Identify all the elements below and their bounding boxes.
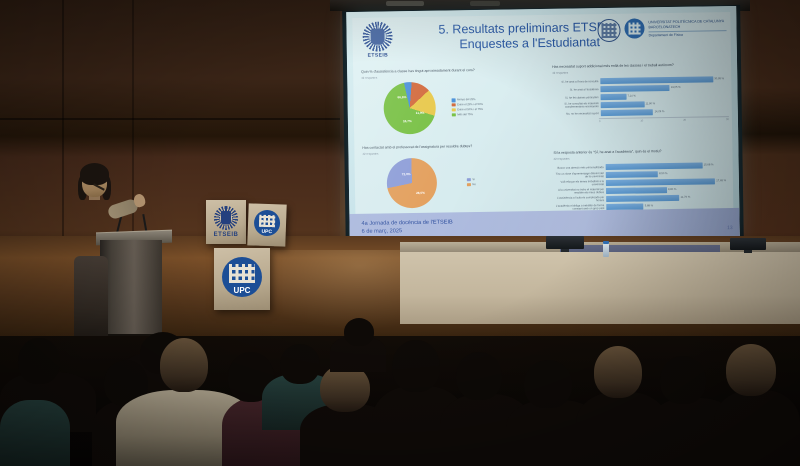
bar-category-label: Sí, he fet classes particulars [553,96,601,100]
legend-label: Més del 75% [457,113,473,116]
audience-head [726,344,776,396]
legend-item: Sí [467,178,476,182]
chart-block-pie-assistencia: Quin % d'assistència a classe has tingut… [361,67,562,135]
bar-value-label: 19,05 % [671,86,681,89]
audience-head [392,340,440,392]
water-bottle-cap [603,241,609,244]
axis-tick: 30 [726,118,729,121]
audience-head [456,352,502,400]
upc-logo-icon: UPC [254,210,281,237]
upc-logo-group: UNIVERSITAT POLITÈCNICA DE CATALUNYA BAR… [597,17,726,42]
bar-category-label: Busco una atenció més personalitzada [554,166,606,170]
speaker-hair [80,163,109,185]
bar-value-label: 11,90 % [645,102,655,105]
slide-title-line1: 5. Resultats preliminars ETSEIB: [438,20,620,37]
upc-seal-icon [597,19,620,42]
bar-track: 11,90 % [601,100,729,108]
legend-label: Entre el 50% i el 75% [457,108,483,111]
audience-member [714,390,800,466]
audience-head [344,318,374,346]
upc-label: UPC [222,286,262,295]
bar-fill [606,195,679,202]
upc-logo-icon: UPC [222,257,262,297]
legend-swatch-icon [452,108,456,112]
left-wood-paneling [0,0,340,262]
pie-chart-contacte: 72,0% 28,0% [387,158,438,209]
bar-fill [601,94,627,101]
etseib-logo: ETSEIB [360,21,395,62]
legend-swatch-icon [452,98,456,102]
etseib-crest-icon [214,206,238,230]
upc-wordmark: UNIVERSITAT POLITÈCNICA DE CATALUNYA BAR… [648,17,726,38]
ceiling-light [470,1,500,6]
footer-event-name: 4a Jornada de docència de l'ETSEIB [361,220,452,229]
legend-label: Entre el 25% i el 50% [457,103,483,106]
pie-slice-label: 72,0% [402,172,411,176]
upc-grid-icon [624,18,644,38]
pie-chart-assistencia: 66,6% 16,7% 11,9% [383,82,436,135]
bar-track: 17,65 % [606,178,730,186]
wall-seam [62,0,64,262]
legend-item: Menys del 25% [452,98,483,102]
bar-fill [600,76,713,84]
wall-seam [132,0,134,262]
lectern-panel-upc-small: UPC [247,203,286,246]
pie-slice-label: 28,0% [416,191,425,195]
bar-track: 30,95 % [600,76,728,84]
bar-fill [606,178,715,186]
bar-category-label: L'assistència a l'aula és complicada per… [554,196,606,203]
chart-response-count: 42 respostes [552,68,728,75]
monitor-stand [744,250,752,253]
ceiling-light [386,1,424,6]
wall-seam [0,118,340,120]
bar-category-label: Sí, he anat a l'acadèmia [552,88,600,92]
bar-category-label: Tinc un ritme d'aprenentatge diferent de… [554,172,606,179]
auditorium-scene: ETSEIB 5. Resultats preliminars ETSEIB: … [0,0,800,466]
lectern-panel-upc-large: UPC [214,248,270,310]
upc-department-name: Departament de Física [649,30,727,38]
bar-value-label: 17,65 % [716,179,726,182]
bar-category-label: No, no he necessitat suport [553,112,601,116]
slide-page-number: 13 [727,225,733,231]
bar-track: 19,05 % [600,84,728,92]
audience-head [280,344,320,384]
axis-tick: 20 [683,119,686,122]
bar-track: 7,14 % [601,92,729,100]
bar-fill [606,187,667,194]
presentation-slide: ETSEIB 5. Resultats preliminars ETSEIB: … [346,6,740,244]
chart-block-bar-suport: Has necessitat suport addicional més enl… [552,62,729,124]
bar-value-label: 5,88 % [645,204,653,207]
pie-slice-label: 16,7% [403,119,412,123]
chart-block-pie-contacte: Has contactat amb el professorat de l'as… [362,143,563,209]
upc-label: UPC [254,229,280,236]
pie-legend-assistencia: Menys del 25% Entre el 25% i el 50% Entr… [452,98,483,117]
legend-label: Menys del 25% [457,98,475,101]
legend-label: No [472,183,475,186]
legend-item: Entre el 25% i el 50% [452,103,483,107]
chart-block-bar-motiu: Si la resposta anterior és "Sí, he anat … [553,148,730,218]
legend-label: Sí [472,178,475,181]
upc-university-name: UNIVERSITAT POLITÈCNICA DE CATALUNYA BAR… [648,19,726,29]
bar-value-label: 30,95 % [714,77,724,80]
axis-tick: 10 [640,119,643,122]
legend-swatch-icon [467,178,471,182]
bar-value-label: 11,76 % [681,196,691,199]
bar-chart-suport: Sí, he anat a l'hora de consulta 30,95 %… [552,76,729,124]
etseib-crest-icon [362,21,392,51]
bar-value-label: 15,68 % [704,163,714,166]
slide-footer-text: 4a Jornada de docència de l'ETSEIB 6 de … [361,220,452,236]
lectern-etseib-label: ETSEIB [206,232,246,238]
panel-table-front [400,252,800,324]
audience-head [594,346,642,398]
bar-category-label: A la universitat no trobo el material pe… [554,188,606,195]
pie-legend-contacte: Sí No [467,178,476,187]
audience-head [160,338,208,392]
right-wood-paneling [735,0,800,258]
audience-head [524,360,572,408]
bar-track: 8,50 % [606,170,730,178]
audience-head [660,356,706,404]
bar-fill [600,85,669,92]
bar-category-label: Sí, he anat a l'hora de consulta [552,80,600,84]
bar-category-label: Sí, he consultat els materials complemen… [553,102,601,109]
etseib-logo-label: ETSEIB [361,52,395,59]
legend-swatch-icon [452,113,456,117]
bar-fill [606,163,703,171]
monitor-stand [561,249,569,252]
water-bottle [603,243,609,257]
bar-track: 15,68 % [606,162,730,170]
projection-screen: ETSEIB 5. Resultats preliminars ETSEIB: … [346,6,740,244]
legend-item: Més del 75% [452,113,483,117]
axis-tick: 0 [599,120,601,123]
panel-monitor [546,236,584,249]
bar-track: 14,29 % [601,108,729,116]
bar-value-label: 7,14 % [627,95,635,98]
pie-slice-label: 66,6% [398,95,407,99]
chart-response-count: 42 respostes [554,154,730,161]
bar-fill [601,101,645,108]
bar-value-label: 8,50 % [659,172,667,175]
audience-member [0,400,70,466]
speaker-lower-body [74,256,108,344]
bar-category-label: Vull reforçar els temes treballats a la … [554,180,606,187]
audience-head [18,338,60,384]
panel-monitor [730,238,766,250]
bar-fill [601,109,654,116]
legend-item: Entre el 50% i el 75% [452,108,483,112]
legend-swatch-icon [467,183,471,187]
bar-value-label: 9,80 % [668,188,676,191]
bar-fill [606,171,658,178]
legend-item: No [467,183,476,187]
pie-slice-label: 11,9% [416,111,425,115]
footer-date: 6 de març, 2025 [362,227,453,236]
bar-track: 9,80 % [606,186,730,194]
lectern-panel-etseib: ETSEIB [206,200,246,244]
legend-swatch-icon [452,103,456,107]
bar-value-label: 14,29 % [655,110,665,113]
bar-track: 11,76 % [606,194,730,202]
